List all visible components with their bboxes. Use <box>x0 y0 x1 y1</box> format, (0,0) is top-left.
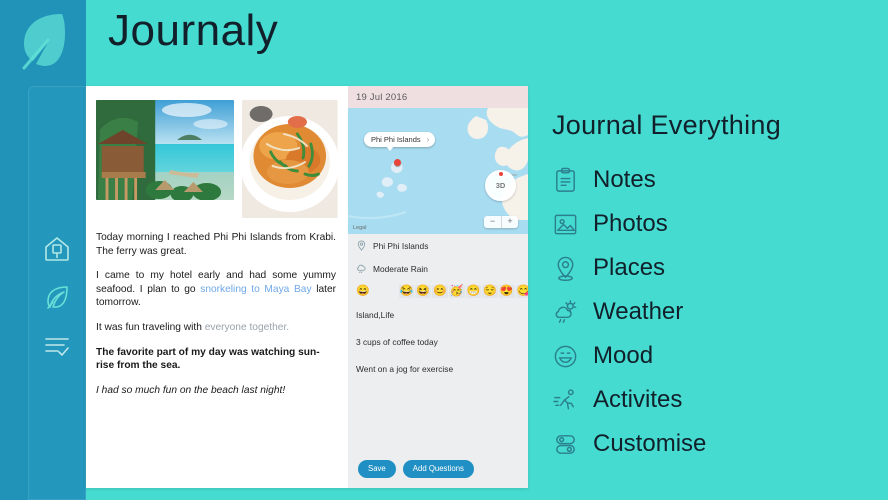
entry-paragraph-2: I came to my hotel early and had some yu… <box>96 269 338 310</box>
detail-row-weather[interactable]: Moderate Rain <box>348 257 528 280</box>
map-zoom-in-button[interactable]: + <box>501 216 518 228</box>
map-legal-link[interactable]: Legal <box>353 225 366 231</box>
chevron-right-icon: › <box>427 135 430 144</box>
app-title: Journaly <box>108 4 278 58</box>
running-person-icon <box>552 387 579 414</box>
feature-customise: Customise <box>552 422 882 466</box>
rain-cloud-icon <box>356 263 367 274</box>
sun-rain-cloud-icon <box>552 299 579 326</box>
mood-option[interactable]: 🥳 <box>449 285 465 298</box>
mood-palette[interactable]: 😂 😆 😊 🥳 😁 😌 😍 😋 <box>399 285 528 298</box>
map-zoom-controls[interactable]: − + <box>484 216 518 228</box>
location-pin-icon <box>552 255 579 282</box>
entry-run-muted: everyone together. <box>205 322 289 333</box>
checklist-icon[interactable] <box>42 330 72 360</box>
entry-link[interactable]: snorkeling to Maya Bay <box>200 284 311 295</box>
feature-label: Weather <box>593 298 683 326</box>
entry-date: 19 Jul 2016 <box>348 86 528 108</box>
mood-selected-emoji[interactable]: 😄 <box>356 286 370 297</box>
feature-places: Places <box>552 246 882 290</box>
feature-activites: Activites <box>552 378 882 422</box>
map-compass-label: 3D <box>496 181 506 190</box>
detail-row-mood[interactable]: 😄 😂 😆 😊 🥳 😁 😌 😍 😋 <box>348 280 528 302</box>
map-zoom-out-button[interactable]: − <box>484 216 501 228</box>
features-column: Journal Everything Notes Photos <box>552 108 882 466</box>
entry-paragraph-4: The favorite part of my day was watching… <box>96 346 338 373</box>
leaf-icon <box>18 10 70 72</box>
brand-block <box>0 0 86 86</box>
entry-paragraph-5: I had so much fun on the beach last nigh… <box>96 384 338 398</box>
entry-run: It was fun traveling with <box>96 322 205 333</box>
feature-weather: Weather <box>552 290 882 334</box>
question-row[interactable]: 3 cups of coffee today <box>348 329 528 356</box>
feature-photos: Photos <box>552 202 882 246</box>
toggle-pills-icon <box>552 431 579 458</box>
feature-label: Customise <box>593 430 706 458</box>
entry-details-pane: 19 Jul 2016 Andaman <box>348 86 528 488</box>
entry-paragraph-3: It was fun traveling with everyone toget… <box>96 321 338 335</box>
details-action-bar: Save Add Questions <box>348 450 528 488</box>
save-button[interactable]: Save <box>358 460 396 478</box>
app-sidebar <box>0 86 86 500</box>
mood-option[interactable]: 😍 <box>499 285 515 298</box>
detail-row-place[interactable]: Phi Phi Islands <box>348 234 528 257</box>
mood-option[interactable]: 😂 <box>399 285 415 298</box>
journal-entry-pane: Today morning I reached Phi Phi Islands … <box>86 86 348 488</box>
app-window: Today morning I reached Phi Phi Islands … <box>86 86 528 488</box>
mood-option[interactable]: 😆 <box>415 285 431 298</box>
feature-label: Mood <box>593 342 653 370</box>
feature-label: Notes <box>593 166 656 194</box>
features-title: Journal Everything <box>552 108 882 142</box>
question-row[interactable]: Went on a jog for exercise <box>348 356 528 383</box>
map-compass-3d-button[interactable]: 3D <box>485 170 516 201</box>
mood-option[interactable]: 😊 <box>432 285 448 298</box>
photo-frame-icon <box>552 211 579 238</box>
location-pin-icon <box>356 240 367 251</box>
feature-notes: Notes <box>552 158 882 202</box>
feature-mood: Mood <box>552 334 882 378</box>
mood-option[interactable]: 😁 <box>466 285 482 298</box>
entry-run: Today morning I reached Phi Phi Islands … <box>96 232 336 257</box>
map-view[interactable]: Andaman Phi Phi Islands › 3D − + Legal <box>348 108 528 234</box>
smiley-face-icon <box>552 343 579 370</box>
detail-weather-label: Moderate Rain <box>373 264 428 274</box>
home-icon[interactable] <box>42 234 72 264</box>
leaf-icon[interactable] <box>42 282 72 312</box>
map-pin-icon <box>394 159 401 166</box>
promo-banner: Journaly <box>0 0 888 500</box>
clipboard-notes-icon <box>552 167 579 194</box>
pad-thai-food-photo[interactable] <box>242 100 338 218</box>
entry-photos <box>96 94 338 220</box>
feature-label: Places <box>593 254 665 282</box>
mood-option[interactable]: 😋 <box>516 285 528 298</box>
map-callout-label: Phi Phi Islands <box>371 135 421 144</box>
feature-label: Photos <box>593 210 668 238</box>
mood-option[interactable]: 😌 <box>482 285 498 298</box>
entry-paragraph-1: Today morning I reached Phi Phi Islands … <box>96 231 338 258</box>
detail-place-label: Phi Phi Islands <box>373 241 428 251</box>
add-questions-button[interactable]: Add Questions <box>403 460 474 478</box>
feature-label: Activites <box>593 386 682 414</box>
beach-resort-photo[interactable] <box>96 100 234 200</box>
map-place-callout[interactable]: Phi Phi Islands › <box>364 132 435 147</box>
question-row[interactable]: Island,Life <box>348 302 528 329</box>
